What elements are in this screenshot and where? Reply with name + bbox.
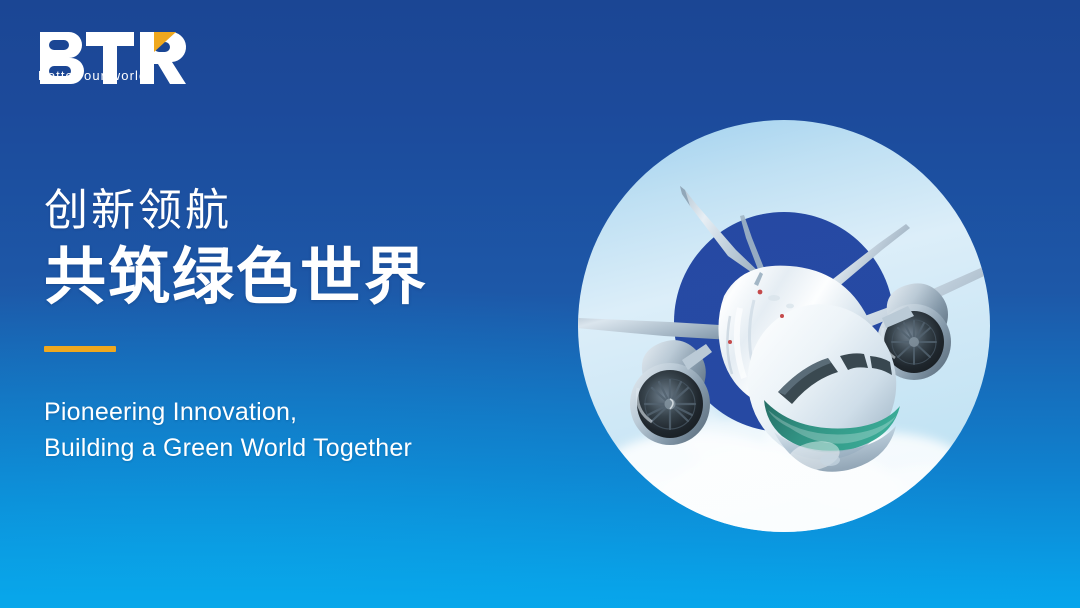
subtitle-block: Pioneering Innovation, Building a Green … (44, 394, 514, 467)
banner-stage: Better our world 创新领航 共筑绿色世界 Pioneering … (0, 0, 1080, 608)
headline-line-large: 共筑绿色世界 (44, 243, 514, 314)
headline-block: 创新领航 共筑绿色世界 Pioneering Innovation, Build… (44, 186, 514, 466)
subtitle-line-1: Pioneering Innovation, (44, 394, 514, 430)
gold-divider (44, 346, 116, 352)
btr-logo[interactable]: Better our world (36, 28, 216, 86)
airplane-medallion-graphic (578, 120, 990, 532)
subtitle-line-2: Building a Green World Together (44, 430, 514, 466)
medallion-clipped-content (512, 120, 1052, 566)
logo-tagline: Better our world (38, 68, 147, 83)
airplane-medallion (578, 120, 990, 532)
headline-line-small: 创新领航 (44, 186, 514, 235)
